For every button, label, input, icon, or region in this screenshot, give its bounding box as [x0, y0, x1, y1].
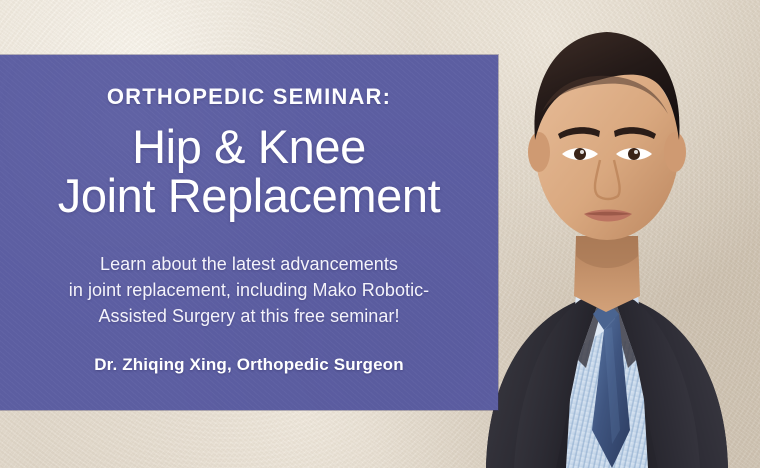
description-line-1: Learn about the latest advancements — [34, 251, 464, 277]
surgeon-portrait-photo: Dr. Zhiqing Xing headshot, male physicia… — [452, 0, 760, 468]
seminar-description: Learn about the latest advancements in j… — [34, 251, 464, 329]
neck — [574, 236, 640, 312]
description-line-2: in joint replacement, including Mako Rob… — [34, 277, 464, 303]
portrait-illustration: Dr. Zhiqing Xing headshot, male physicia… — [452, 0, 760, 468]
seminar-eyebrow-label: ORTHOPEDIC SEMINAR: — [34, 85, 464, 109]
description-line-3: Assisted Surgery at this free seminar! — [34, 303, 464, 329]
seminar-promo-banner: Dr. Zhiqing Xing headshot, male physicia… — [0, 0, 760, 468]
presenter-attribution: Dr. Zhiqing Xing, Orthopedic Surgeon — [34, 355, 464, 375]
panel-content: ORTHOPEDIC SEMINAR: Hip & Knee Joint Rep… — [0, 55, 498, 410]
seminar-headline: Hip & Knee Joint Replacement — [34, 123, 464, 221]
headline-line-1: Hip & Knee — [34, 123, 464, 172]
headline-line-2: Joint Replacement — [34, 172, 464, 221]
text-panel: ORTHOPEDIC SEMINAR: Hip & Knee Joint Rep… — [0, 55, 498, 410]
